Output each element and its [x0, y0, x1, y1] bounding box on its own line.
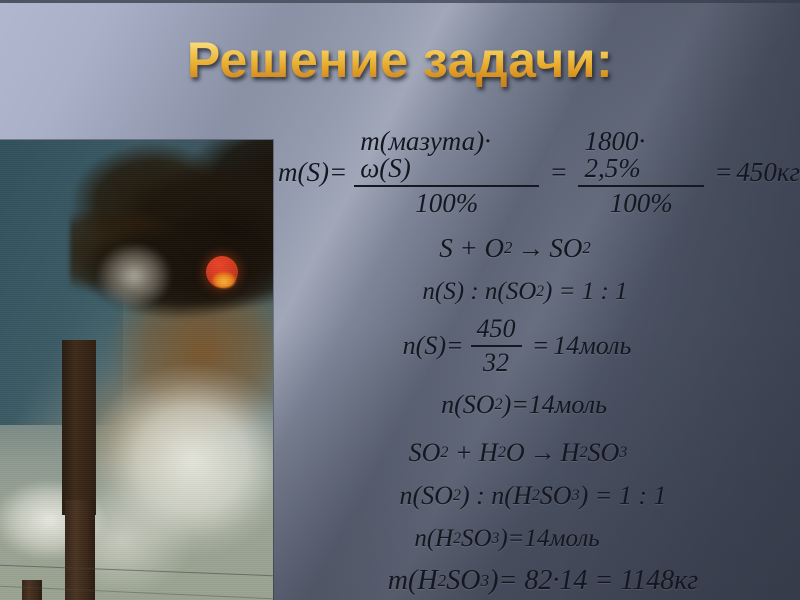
formula-2-product-sub: 2 — [582, 240, 590, 257]
formula-6-a: SO — [409, 440, 441, 466]
formula-line-5: n(SO2)=14моль — [276, 392, 772, 418]
formula-5-b: )=14моль — [503, 392, 607, 418]
formula-6-plus: + H — [455, 440, 498, 466]
formula-7-a: n(SO — [399, 483, 452, 509]
formula-line-1: m(S)= m(мазута)· ω(S) 100% = 1800· 2,5% … — [278, 128, 800, 217]
formula-9-sub-b: 3 — [480, 572, 489, 589]
formula-8-sub-a: 2 — [453, 531, 461, 547]
formula-line-2: S + O2 → SO2 — [276, 235, 754, 262]
formula-1-fraction-1: m(мазута)· ω(S) 100% — [354, 128, 539, 217]
formula-line-9: m(H2SO3)= 82·14 = 1148кг — [286, 567, 800, 595]
formula-7-sub-c: 3 — [572, 488, 580, 504]
formula-7-d: ) = 1 : 1 — [580, 483, 667, 509]
formula-4-lhs: n(S)= — [403, 333, 464, 359]
formula-3-b: ) = 1 : 1 — [544, 279, 628, 304]
formula-1-numerator-2: 1800· 2,5% — [578, 128, 704, 185]
formula-1-result: 450кг — [736, 159, 800, 186]
formula-9-a: m(H — [388, 567, 438, 595]
formula-1-equals-2: = — [711, 159, 736, 186]
formula-7-c: SO — [540, 483, 572, 509]
formula-line-8: n(H2SO3)=14моль — [276, 526, 738, 551]
formula-8-c: )=14моль — [499, 526, 599, 551]
page-title: Решение задачи: — [0, 34, 800, 87]
formula-4-result: 14моль — [553, 333, 631, 359]
formula-6-d: SO — [588, 440, 620, 466]
formula-1-lhs: m(S)= — [278, 159, 347, 186]
formula-3-sub-a: 2 — [536, 284, 544, 300]
formula-1-denominator-2: 100% — [604, 187, 679, 217]
formula-4-equals: = — [529, 333, 554, 359]
formula-6-sub-c: 2 — [579, 445, 587, 461]
formula-1-equals-1: = — [546, 159, 571, 186]
formula-3-a: n(S) : n(SO — [422, 279, 536, 304]
formula-1-denominator-1: 100% — [409, 187, 484, 217]
formula-4-denominator: 32 — [477, 347, 515, 376]
formula-2-reagents: S + O — [439, 235, 504, 262]
formula-7-sub-b: 2 — [532, 488, 540, 504]
formula-1-numerator-1: m(мазута)· ω(S) — [354, 128, 539, 185]
formula-4-fraction: 450 32 — [471, 316, 522, 376]
formula-9-c: )= 82·14 = 1148кг — [489, 567, 698, 595]
smokestack-left — [22, 580, 42, 600]
slide-top-edge — [0, 0, 800, 3]
formula-4-numerator: 450 — [471, 316, 522, 345]
solution-formulas: m(S)= m(мазута)· ω(S) 100% = 1800· 2,5% … — [276, 128, 800, 595]
formula-7-b: ) : n(H — [461, 483, 532, 509]
smokestack-middle — [65, 500, 95, 600]
formula-6-sub-d: 3 — [619, 445, 627, 461]
formula-line-7: n(SO2) : n(H2SO3) = 1 : 1 — [276, 483, 790, 509]
formula-line-6: SO2 + H2O → H2SO3 — [276, 440, 760, 466]
formula-5-sub-a: 2 — [495, 397, 503, 413]
sun-glow — [212, 272, 236, 288]
formula-6-sub-a: 2 — [440, 445, 448, 461]
formula-6-b: O — [506, 440, 525, 466]
formula-2-product: SO — [549, 235, 582, 262]
formula-8-b: SO — [461, 526, 492, 551]
formula-9-b: SO — [446, 567, 480, 595]
pollution-photo — [0, 140, 273, 600]
formula-line-3: n(S) : n(SO2) = 1 : 1 — [276, 279, 774, 304]
photo-smoke-wisp — [82, 226, 192, 336]
formula-2-reagent-sub: 2 — [504, 240, 512, 257]
formula-5-a: n(SO — [441, 392, 494, 418]
formula-9-sub-a: 2 — [438, 572, 447, 589]
formula-line-4: n(S)= 450 32 = 14моль — [276, 316, 758, 376]
reaction-arrow-icon: → — [525, 440, 561, 466]
formula-6-c: H — [561, 440, 580, 466]
formula-7-sub-a: 2 — [453, 488, 461, 504]
reaction-arrow-icon: → — [512, 235, 549, 262]
smokestack-tall — [62, 340, 96, 515]
formula-8-a: n(H — [414, 526, 453, 551]
formula-1-fraction-2: 1800· 2,5% 100% — [578, 128, 704, 217]
presentation-slide: Решение задачи: m(S)= m(мазута)· ω(S) 10… — [0, 0, 800, 600]
formula-6-sub-b: 2 — [498, 445, 506, 461]
